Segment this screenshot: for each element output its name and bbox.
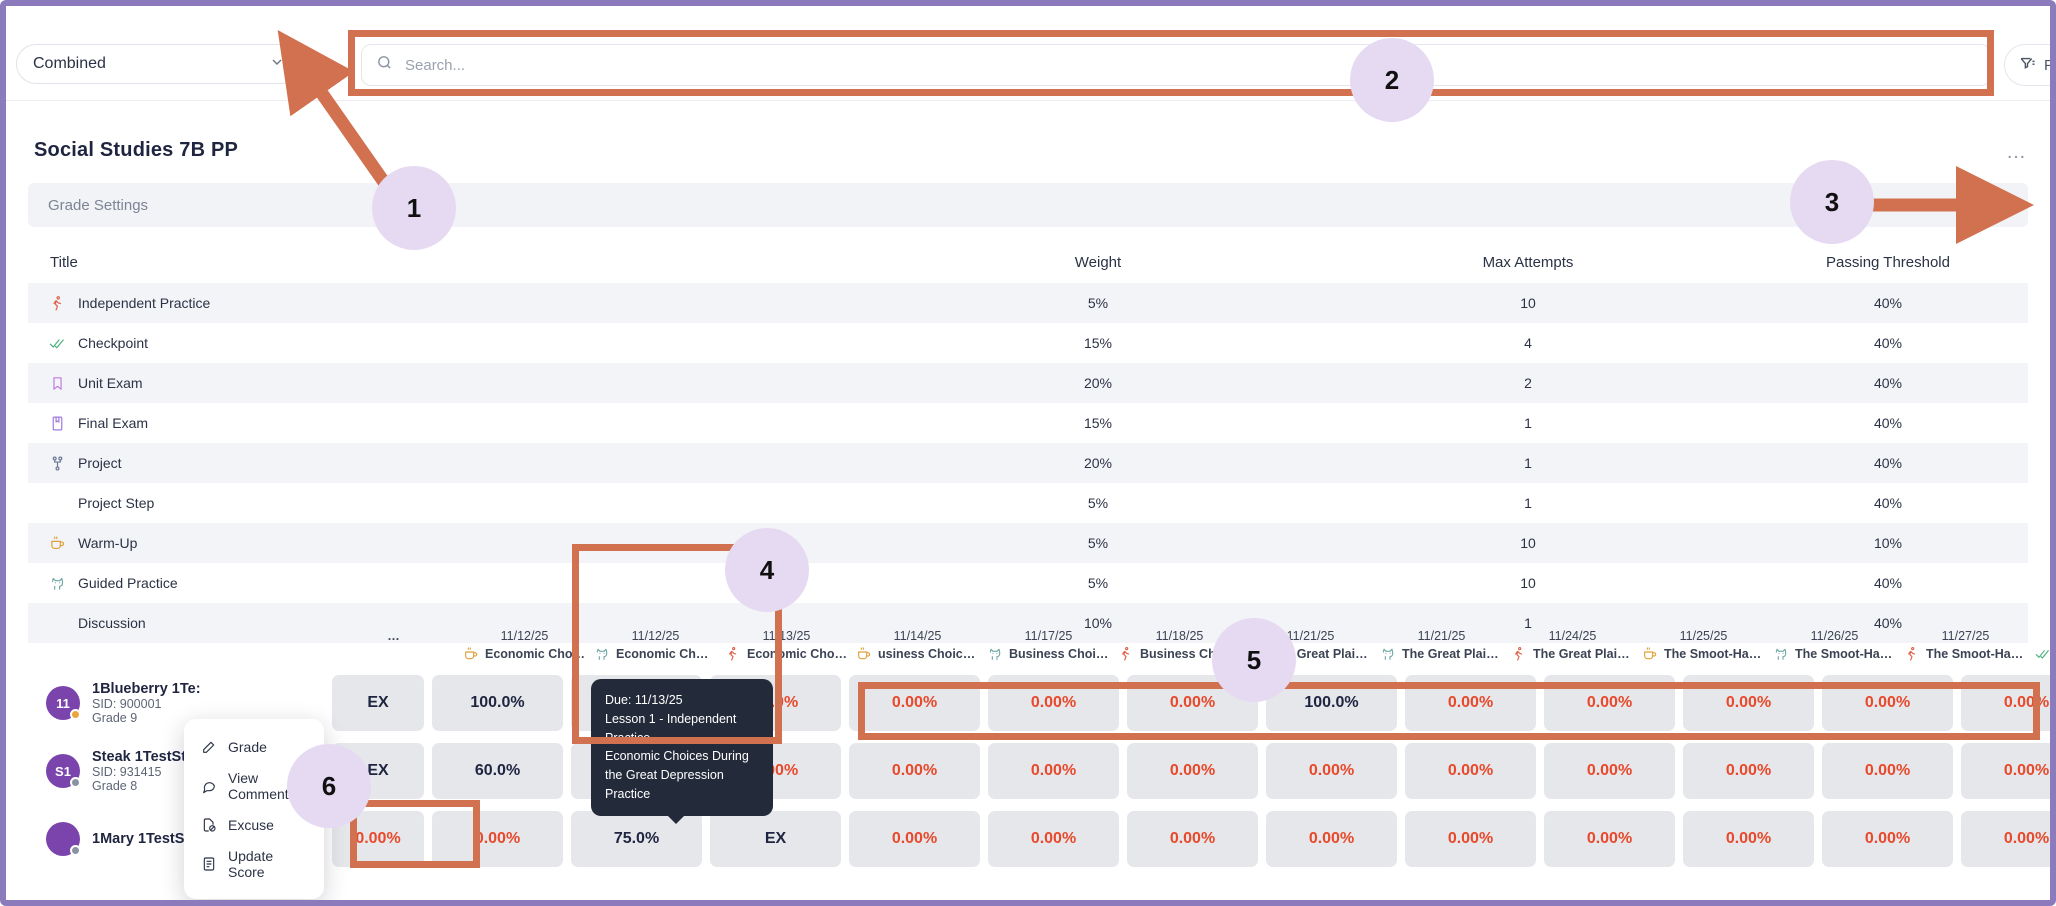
tooltip-arrow: [667, 815, 685, 824]
assignment-tooltip: Due: 11/13/25Lesson 1 - IndependentPract…: [591, 679, 773, 816]
settings-row-attempts: 10: [1308, 535, 1748, 551]
annotation-marker-2: 2: [1350, 38, 1434, 122]
settings-row-weight: 5%: [888, 535, 1308, 551]
status-dot: [70, 777, 81, 788]
grade-cell[interactable]: 0.00%: [1544, 675, 1675, 731]
settings-row-threshold: 40%: [1748, 375, 2028, 391]
settings-row-weight: 5%: [888, 295, 1308, 311]
gradebook-column-header[interactable]: 11/25/25The Smoot-Hawl…: [1638, 628, 1769, 669]
gradebook-column-header[interactable]: 11/24/25The Great Plains …: [1507, 628, 1638, 669]
grade-cell[interactable]: 0.00%: [1266, 811, 1397, 867]
settings-row-title-text: Warm-Up: [78, 535, 137, 551]
edit-icon: [200, 738, 218, 756]
gradebook-column-date: 11/24/25: [1507, 628, 1638, 645]
settings-row-title-text: Project: [78, 455, 122, 471]
grade-cell[interactable]: 0.00%: [1683, 811, 1814, 867]
settings-row-attempts: 1: [1308, 415, 1748, 431]
gradebook-column-name: The Smoot-Hawl…: [1900, 645, 2031, 663]
gradebook-column-date: 11/13/25: [721, 628, 852, 645]
grade-cell[interactable]: EX: [710, 811, 841, 867]
chevron-up-icon[interactable]: [1990, 194, 2008, 216]
grade-cell[interactable]: 0.00%: [1683, 675, 1814, 731]
student-name: 1Blueberry 1Te:: [92, 681, 201, 697]
settings-row-title: Unit Exam: [28, 374, 888, 392]
checks-icon: [48, 334, 66, 352]
col-header-title: Title: [28, 254, 888, 271]
search-icon: [376, 54, 393, 76]
gradebook-column-name: …: [328, 628, 459, 645]
comment-icon: [200, 777, 218, 795]
grade-cell[interactable]: 0.00%: [1405, 743, 1536, 799]
list-icon: [200, 855, 218, 873]
grade-cell[interactable]: 60.0%: [432, 743, 563, 799]
card-more-menu[interactable]: …: [2006, 141, 2028, 164]
status-dot: [70, 709, 81, 720]
settings-row-title: Independent Practice: [28, 294, 888, 312]
gradebook-column-header[interactable]: …: [328, 628, 459, 669]
filter-icon: [2019, 55, 2036, 76]
gradebook-column-header[interactable]: 11/28/25Geography, Trade…: [2031, 628, 2050, 669]
search-bar[interactable]: [361, 44, 1991, 86]
settings-row-attempts: 4: [1308, 335, 1748, 351]
col-header-weight: Weight: [888, 254, 1308, 271]
grade-cell[interactable]: 100.0%: [432, 675, 563, 731]
runner-icon: [1903, 645, 1921, 663]
gradebook-column-header[interactable]: 11/12/25Economic Ch…ce…: [590, 628, 721, 669]
tooltip-line: Practice: [605, 729, 759, 748]
search-input[interactable]: [405, 57, 1976, 74]
settings-table-header: Title Weight Max Attempts Passing Thresh…: [28, 241, 2028, 283]
settings-row-weight: 20%: [888, 455, 1308, 471]
annotation-marker-4: 4: [725, 528, 809, 612]
runner-icon: [48, 294, 66, 312]
grade-cell[interactable]: 0.00%: [1544, 811, 1675, 867]
gradebook-column-header[interactable]: 11/26/25The Smoot-Hawl…: [1769, 628, 1900, 669]
settings-table-row[interactable]: Checkpoint15%440%: [28, 323, 2028, 363]
context-menu-item[interactable]: Update Score: [184, 841, 324, 887]
tooltip-line: Practice: [605, 785, 759, 804]
dog-icon: [1772, 645, 1790, 663]
gradebook-column-name: Economic Choice…: [459, 645, 590, 663]
grade-cell[interactable]: 0.00%: [849, 811, 980, 867]
settings-row-weight: 5%: [888, 495, 1308, 511]
file-off-icon: [200, 816, 218, 834]
annotation-marker-3: 3: [1790, 160, 1874, 244]
grade-cell[interactable]: 0.00%: [988, 811, 1119, 867]
tooltip-line: Lesson 1 - Independent: [605, 710, 759, 729]
gradebook-column-date: 11/26/25: [1769, 628, 1900, 645]
grade-cell[interactable]: 0.00%: [1961, 743, 2050, 799]
filter-label: Filt: [2044, 57, 2056, 74]
tooltip-line: Due: 11/13/25: [605, 691, 759, 710]
grade-cell[interactable]: 0.00%: [1127, 743, 1258, 799]
grade-settings-header[interactable]: Grade Settings: [28, 183, 2028, 227]
annotation-marker-6: 6: [287, 744, 371, 828]
settings-table-row[interactable]: Final Exam15%140%: [28, 403, 2028, 443]
none: [48, 494, 66, 512]
gradebook-column-date: 11/28/25: [2031, 628, 2050, 645]
grade-cell[interactable]: 0.00%: [849, 675, 980, 731]
grade-cell[interactable]: 0.00%: [988, 743, 1119, 799]
settings-row-weight: 15%: [888, 335, 1308, 351]
page-title: Social Studies 7B PP: [34, 139, 238, 162]
settings-row-title: Project: [28, 454, 888, 472]
dog-icon: [986, 645, 1004, 663]
gradebook-column-name: The Smoot-Hawl…: [1638, 645, 1769, 663]
student-grade: Grade 9: [92, 711, 201, 725]
chevron-down-icon: [269, 54, 285, 75]
settings-row-attempts: 10: [1308, 295, 1748, 311]
context-menu-item-label: Excuse: [228, 817, 274, 833]
tooltip-line: Economic Choices During: [605, 747, 759, 766]
gradebook-column-date: 11/25/25: [1638, 628, 1769, 645]
gradebook-column-headers: …11/12/25Economic Choice…11/12/25Economi…: [28, 613, 2050, 669]
avatar: 11: [46, 686, 80, 720]
settings-row-attempts: 1: [1308, 495, 1748, 511]
runner-icon: [1117, 645, 1135, 663]
grade-cell[interactable]: 0.00%: [1405, 675, 1536, 731]
scope-select-value: Combined: [33, 55, 106, 73]
settings-table-row[interactable]: Guided Practice5%1040%: [28, 563, 2028, 603]
gradebook-column-header[interactable]: 11/21/25The Great Plains …: [1376, 628, 1507, 669]
grade-settings-label: Grade Settings: [48, 197, 148, 214]
grade-cell[interactable]: 0.00%: [1683, 743, 1814, 799]
gradebook-column-header[interactable]: 11/14/25usiness Choices…: [852, 628, 983, 669]
settings-row-title: Final Exam: [28, 414, 888, 432]
dog-icon: [593, 645, 611, 663]
coffee-icon: [48, 534, 66, 552]
settings-table-row[interactable]: Unit Exam20%240%: [28, 363, 2028, 403]
gradebook-column-header[interactable]: 11/12/25Economic Choice…: [459, 628, 590, 669]
settings-row-threshold: 40%: [1748, 575, 2028, 591]
settings-row-title-text: Checkpoint: [78, 335, 148, 351]
grade-cell[interactable]: 0.00%: [432, 811, 563, 867]
gradebook-column-date: 11/27/25: [1900, 628, 2031, 645]
gradebook-column-name: usiness Choices…: [852, 645, 983, 663]
settings-row-threshold: 10%: [1748, 535, 2028, 551]
coffee-icon: [855, 645, 873, 663]
filter-button[interactable]: Filt: [2004, 44, 2056, 86]
gradebook-column-name: Geography, Trade…: [2031, 645, 2050, 663]
checks-icon: [2034, 645, 2050, 663]
dog-icon: [48, 574, 66, 592]
grade-cell[interactable]: EX: [332, 675, 424, 731]
settings-row-title-text: Guided Practice: [78, 575, 178, 591]
settings-row-attempts: 10: [1308, 575, 1748, 591]
status-dot: [70, 845, 81, 856]
runner-icon: [724, 645, 742, 663]
settings-row-title: Project Step: [28, 494, 888, 512]
settings-table-row[interactable]: Project Step5%140%: [28, 483, 2028, 523]
grade-cell[interactable]: 0.00%: [849, 743, 980, 799]
settings-row-weight: 20%: [888, 375, 1308, 391]
settings-row-weight: 15%: [888, 415, 1308, 431]
context-menu-item-label: Grade: [228, 739, 267, 755]
settings-row-attempts: 2: [1308, 375, 1748, 391]
settings-row-threshold: 40%: [1748, 455, 2028, 471]
settings-table-row[interactable]: Warm-Up5%1010%: [28, 523, 2028, 563]
gradebook-column-date: 11/12/25: [590, 628, 721, 645]
settings-row-title-text: Project Step: [78, 495, 154, 511]
grade-cell[interactable]: 0.00%: [988, 675, 1119, 731]
grade-cell[interactable]: 0.00%: [1127, 811, 1258, 867]
avatar: [46, 822, 80, 856]
settings-row-title-text: Unit Exam: [78, 375, 143, 391]
gradebook-column-name: Economic Choice…: [721, 645, 852, 663]
settings-table-row[interactable]: Project20%140%: [28, 443, 2028, 483]
gradebook-column-date: 11/17/25: [983, 628, 1114, 645]
gradebook-row: 111Blueberry 1Te:SID: 900001Grade 9EX100…: [28, 669, 2050, 737]
settings-row-threshold: 40%: [1748, 295, 2028, 311]
settings-row-threshold: 40%: [1748, 495, 2028, 511]
gradebook-column-date: 11/14/25: [852, 628, 983, 645]
runner-icon: [1510, 645, 1528, 663]
gradebook-column-header[interactable]: 11/27/25The Smoot-Hawl…: [1900, 628, 2031, 669]
bookmark-icon: [48, 374, 66, 392]
col-header-threshold: Passing Threshold: [1748, 254, 2028, 271]
grade-cell[interactable]: 0.00%: [1961, 811, 2050, 867]
student-sid: SID: 900001: [92, 697, 201, 711]
settings-row-title: Checkpoint: [28, 334, 888, 352]
settings-row-attempts: 1: [1308, 455, 1748, 471]
gradebook-column-name: The Smoot-Hawl…: [1769, 645, 1900, 663]
grade-cell[interactable]: 0.00%: [1961, 675, 2050, 731]
coffee-icon: [1641, 645, 1659, 663]
grade-cell[interactable]: 0.00%: [1405, 811, 1536, 867]
gradebook-column-name: The Great Plains …: [1376, 645, 1507, 663]
gradebook-column-header[interactable]: 11/13/25Economic Choice…: [721, 628, 852, 669]
scope-select[interactable]: Combined: [16, 44, 302, 84]
settings-row-title-text: Independent Practice: [78, 295, 210, 311]
annotation-marker-1: 1: [372, 166, 456, 250]
gradebook-column-name: The Great Plains …: [1507, 645, 1638, 663]
gradebook-column-date: 11/21/25: [1376, 628, 1507, 645]
annotation-marker-5: 5: [1212, 618, 1296, 702]
avatar: S1: [46, 754, 80, 788]
context-menu-item-label: Update Score: [228, 848, 308, 880]
coffee-icon: [462, 645, 480, 663]
gradebook-column-name: Economic Ch…ce…: [590, 645, 721, 663]
sitemap-icon: [48, 454, 66, 472]
settings-row-weight: 5%: [888, 575, 1308, 591]
grade-cell[interactable]: 0.00%: [1822, 811, 1953, 867]
book-icon: [48, 414, 66, 432]
grade-cell[interactable]: 0.00%: [1266, 743, 1397, 799]
settings-row-threshold: 40%: [1748, 415, 2028, 431]
gradebook-column-header[interactable]: 11/17/25Business Choices…: [983, 628, 1114, 669]
col-header-attempts: Max Attempts: [1308, 254, 1748, 271]
grade-settings-table: Title Weight Max Attempts Passing Thresh…: [28, 241, 2028, 643]
grade-cell[interactable]: 0.00%: [1822, 743, 1953, 799]
gradebook-column-name: Business Choices…: [983, 645, 1114, 663]
grade-cell[interactable]: 0.00%: [1544, 743, 1675, 799]
settings-table-row[interactable]: Independent Practice5%1040%: [28, 283, 2028, 323]
top-toolbar: Combined Filt: [6, 6, 2050, 92]
grade-cell[interactable]: 0.00%: [1822, 675, 1953, 731]
settings-row-threshold: 40%: [1748, 335, 2028, 351]
tooltip-line: the Great Depression: [605, 766, 759, 785]
dog-icon: [1379, 645, 1397, 663]
settings-row-title-text: Final Exam: [78, 415, 148, 431]
gradebook-column-date: 11/12/25: [459, 628, 590, 645]
